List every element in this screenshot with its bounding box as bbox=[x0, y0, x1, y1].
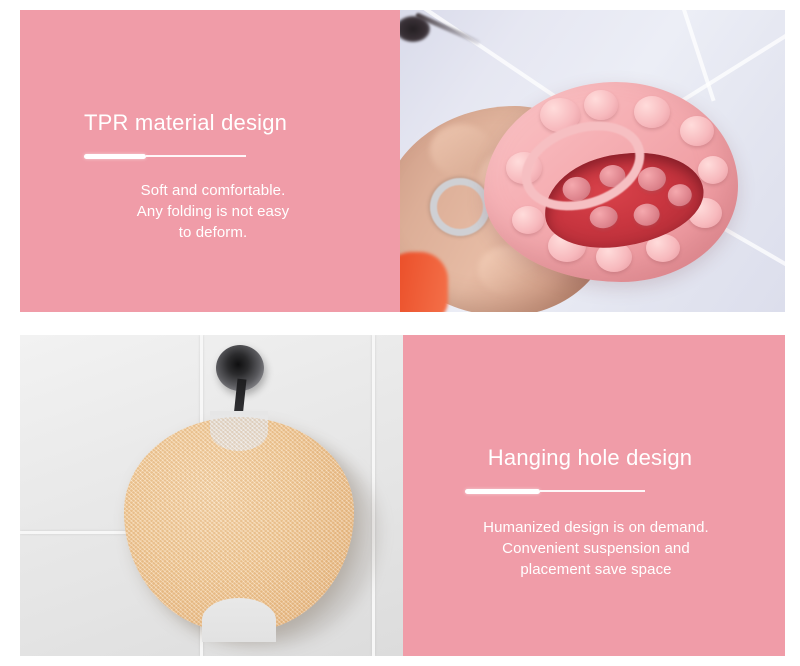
divider-thin-segment bbox=[540, 490, 645, 492]
brush-nub bbox=[584, 90, 618, 120]
brush-nub bbox=[680, 116, 714, 146]
brush-nub bbox=[512, 206, 544, 234]
heading-divider bbox=[20, 152, 400, 160]
inner-nub bbox=[667, 183, 693, 207]
feature-text-panel-tpr-material: TPR material design Soft and comfortable… bbox=[20, 10, 400, 312]
feature-heading-tpr-material: TPR material design bbox=[20, 108, 400, 138]
divider-thin-segment bbox=[146, 155, 246, 157]
product-feature-page: TPR material design Soft and comfortable… bbox=[0, 0, 800, 666]
feature-row-tpr-material: TPR material design Soft and comfortable… bbox=[20, 10, 785, 312]
body-line: Soft and comfortable. bbox=[98, 180, 328, 201]
body-line: placement save space bbox=[429, 559, 763, 580]
text-block: Hanging hole design Humanized design is … bbox=[403, 443, 785, 580]
finger-ring bbox=[430, 178, 490, 236]
heading-divider bbox=[403, 487, 785, 495]
brush-nub bbox=[698, 156, 728, 184]
divider-thick-segment bbox=[84, 154, 146, 159]
feature-photo-brush-hanging-on-hook bbox=[20, 335, 403, 656]
inner-nub bbox=[589, 205, 619, 230]
body-line: to deform. bbox=[98, 222, 328, 243]
feature-text-panel-hanging-hole: Hanging hole design Humanized design is … bbox=[403, 335, 785, 656]
body-line: Humanized design is on demand. bbox=[429, 517, 763, 538]
body-line: Convenient suspension and bbox=[429, 538, 763, 559]
orange-sleeve bbox=[400, 252, 448, 312]
text-block: TPR material design Soft and comfortable… bbox=[20, 108, 400, 243]
feature-body-tpr-material: Soft and comfortable. Any folding is not… bbox=[20, 180, 400, 243]
feature-row-hanging-hole: Hanging hole design Humanized design is … bbox=[20, 335, 785, 656]
feature-photo-hand-squeezing-brush bbox=[400, 10, 785, 312]
feature-heading-hanging-hole: Hanging hole design bbox=[403, 443, 785, 473]
divider-thick-segment bbox=[465, 489, 540, 494]
inner-nub bbox=[633, 202, 661, 227]
brush-nub bbox=[634, 96, 670, 128]
body-line: Any folding is not easy bbox=[98, 201, 328, 222]
feature-body-hanging-hole: Humanized design is on demand. Convenien… bbox=[403, 517, 785, 580]
